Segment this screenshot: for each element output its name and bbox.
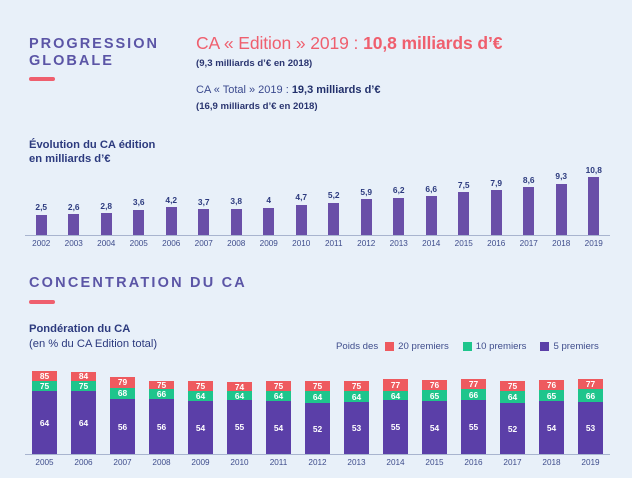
chart2-segment-10: 75	[32, 381, 57, 392]
chart2-bar-group: 756656	[142, 363, 181, 454]
chart1-bar-value: 8,6	[523, 175, 535, 185]
chart2-stacked-bar: 776455	[383, 379, 408, 454]
chart1-bar-value: 4	[266, 195, 271, 205]
chart1-bar	[36, 215, 47, 235]
chart2-bar-group: 746455	[220, 363, 259, 454]
section-title-concentration: CONCENTRATION DU CA	[29, 275, 247, 291]
chart1-x-tick: 2015	[448, 239, 481, 248]
chart1-plot-area: 2,52,62,83,64,23,73,844,75,25,96,26,67,5…	[25, 160, 610, 236]
chart2-segment-20: 84	[71, 372, 96, 381]
chart2-segment-20: 79	[110, 377, 135, 388]
kpi-edition-2019: CA « Edition » 2019 : 10,8 milliards d’€	[196, 33, 502, 54]
chart2-segment-10: 75	[71, 381, 96, 392]
chart2-segment-20: 76	[539, 380, 564, 391]
chart2-bar-group: 756452	[493, 363, 532, 454]
chart1-bar-group: 4,2	[155, 160, 188, 235]
chart1-bar	[393, 198, 404, 235]
chart2-x-tick: 2012	[298, 458, 337, 467]
chart1-bar	[198, 209, 209, 235]
chart2-segment-5: 56	[149, 399, 174, 454]
kpi-edition-value: 10,8 milliards d’€	[363, 33, 502, 53]
chart2-bar-group: 847564	[64, 363, 103, 454]
chart1-bar-group: 8,6	[513, 160, 546, 235]
chart2-x-tick: 2014	[376, 458, 415, 467]
chart1-bar	[166, 207, 177, 235]
chart1-bar	[458, 192, 469, 235]
chart1-bar-value: 5,2	[328, 190, 340, 200]
chart2-x-tick: 2017	[493, 458, 532, 467]
chart2-segment-20: 75	[305, 381, 330, 392]
chart1-title-line1: Évolution du CA édition	[29, 138, 155, 152]
chart2-stacked-bar: 756453	[344, 381, 369, 454]
kpi-total-2019: CA « Total » 2019 : 19,3 milliards d’€	[196, 84, 380, 96]
accent-rule-progression	[29, 77, 55, 81]
chart2-segment-5: 54	[539, 401, 564, 454]
chart1-x-tick: 2013	[383, 239, 416, 248]
chart1-bar-group: 3,7	[188, 160, 221, 235]
chart1-bar-value: 7,5	[458, 180, 470, 190]
chart2-bar-group: 766554	[415, 363, 454, 454]
chart1-bar-value: 3,8	[230, 196, 242, 206]
chart1-bar-group: 3,6	[123, 160, 156, 235]
chart2-stacked-bar: 756454	[266, 381, 291, 454]
chart1-bar-group: 7,5	[448, 160, 481, 235]
legend-label: Poids des	[336, 341, 378, 352]
chart2-segment-10: 64	[383, 391, 408, 400]
chart1-x-tick: 2018	[545, 239, 578, 248]
chart1-bar	[296, 205, 307, 235]
chart2-segment-5: 64	[71, 391, 96, 454]
chart1-bar-group: 5,2	[318, 160, 351, 235]
chart1-bar-value: 2,6	[68, 202, 80, 212]
legend-item-label: 5 premiers	[553, 341, 598, 352]
chart1-bar-group: 7,9	[480, 160, 513, 235]
chart1-bar-value: 4,7	[295, 192, 307, 202]
chart1-bar-value: 3,7	[198, 197, 210, 207]
chart2-segment-10: 65	[539, 390, 564, 401]
chart2-bar-group: 756453	[337, 363, 376, 454]
chart1-bar-group: 2,6	[58, 160, 91, 235]
chart2-segment-20: 85	[32, 371, 57, 381]
chart1-bar	[588, 177, 599, 235]
chart2-x-tick: 2011	[259, 458, 298, 467]
chart1-bar	[491, 190, 502, 235]
chart2-x-tick: 2009	[181, 458, 220, 467]
chart1-x-tick: 2016	[480, 239, 513, 248]
chart2-x-tick: 2016	[454, 458, 493, 467]
chart1-bar-group: 6,6	[415, 160, 448, 235]
chart2-bar-group: 766554	[532, 363, 571, 454]
chart2-x-tick: 2013	[337, 458, 376, 467]
accent-rule-concentration	[29, 300, 55, 304]
chart1-bar-group: 2,5	[25, 160, 58, 235]
header-section: PROGRESSION GLOBALE CA « Edition » 2019 …	[0, 0, 632, 122]
chart2-segment-20: 76	[422, 380, 447, 391]
chart2-plot-area: 8575648475647968567566567564547464557564…	[25, 363, 610, 455]
chart2-segment-10: 64	[188, 391, 213, 401]
chart2-segment-10: 66	[149, 389, 174, 399]
chart2-title-line1: Pondération du CA	[29, 322, 157, 337]
section-title-progression: PROGRESSION GLOBALE	[29, 36, 179, 70]
chart2-legend: Poids des 20 premiers10 premiers5 premie…	[336, 341, 608, 352]
chart2-segment-5: 52	[500, 403, 525, 454]
chart1-x-tick: 2019	[578, 239, 611, 248]
chart2-stacked-bar: 776655	[461, 379, 486, 454]
legend-swatch-icon	[385, 342, 394, 351]
chart2-bar-group: 796856	[103, 363, 142, 454]
chart2-segment-20: 75	[344, 381, 369, 392]
legend-item: 5 premiers	[540, 341, 598, 352]
chart2-segment-20: 75	[188, 381, 213, 392]
chart1-bar-value: 9,3	[555, 171, 567, 181]
chart1-bar-value: 3,6	[133, 197, 145, 207]
chart2-segment-10: 64	[500, 391, 525, 403]
chart1-bar-group: 10,8	[578, 160, 611, 235]
chart1-bar-value: 5,9	[360, 187, 372, 197]
chart2-x-tick: 2019	[571, 458, 610, 467]
chart2-segment-10: 64	[266, 391, 291, 401]
legend-swatch-icon	[540, 342, 549, 351]
chart-evolution-ca-edition: 2,52,62,83,64,23,73,844,75,25,96,26,67,5…	[25, 160, 610, 255]
chart2-stacked-bar: 756452	[500, 381, 525, 454]
chart1-x-tick: 2010	[285, 239, 318, 248]
chart1-x-tick: 2014	[415, 239, 448, 248]
chart1-bar-value: 2,5	[35, 202, 47, 212]
chart1-bar-value: 4,2	[165, 195, 177, 205]
chart1-bar-group: 6,2	[383, 160, 416, 235]
chart2-stacked-bar: 776653	[578, 379, 603, 454]
kpi-edition-prefix: CA « Edition » 2019 :	[196, 33, 363, 53]
chart1-x-tick: 2005	[123, 239, 156, 248]
kpi-total-prefix: CA « Total » 2019 :	[196, 84, 292, 96]
chart1-bar-value: 2,8	[100, 201, 112, 211]
chart1-bar	[556, 184, 567, 235]
chart2-x-tick: 2008	[142, 458, 181, 467]
chart2-bar-group: 776653	[571, 363, 610, 454]
chart2-x-tick: 2007	[103, 458, 142, 467]
chart2-segment-20: 75	[149, 381, 174, 390]
chart2-segment-20: 75	[500, 381, 525, 392]
chart1-bar-value: 6,6	[425, 184, 437, 194]
chart-ponderation-du-ca: 8575648475647968567566567564547464557564…	[25, 363, 610, 468]
chart2-stacked-bar: 746455	[227, 382, 252, 454]
chart2-stacked-bar: 857564	[32, 371, 57, 454]
chart2-title: Pondération du CA (en % du CA Edition to…	[29, 322, 157, 351]
chart2-segment-5: 55	[227, 400, 252, 454]
kpi-total-2018: (16,9 milliards d’€ en 2018)	[196, 101, 318, 112]
legend-item-label: 20 premiers	[398, 341, 449, 352]
chart1-bar-group: 3,8	[220, 160, 253, 235]
chart2-segment-5: 54	[188, 401, 213, 454]
chart2-segment-10: 64	[344, 391, 369, 402]
chart2-segment-5: 53	[344, 402, 369, 454]
chart2-stacked-bar: 756452	[305, 381, 330, 454]
chart1-bar-group: 2,8	[90, 160, 123, 235]
chart1-bar	[231, 209, 242, 235]
chart1-bar	[426, 196, 437, 235]
chart2-segment-10: 68	[110, 388, 135, 400]
chart1-bar-value: 7,9	[490, 178, 502, 188]
infographic-page: PROGRESSION GLOBALE CA « Edition » 2019 …	[0, 0, 632, 478]
chart1-bar-group: 9,3	[545, 160, 578, 235]
chart2-segment-10: 66	[578, 389, 603, 402]
chart2-segment-5: 52	[305, 403, 330, 454]
chart1-bar	[361, 199, 372, 235]
chart2-segment-10: 65	[422, 390, 447, 401]
chart1-x-tick: 2017	[513, 239, 546, 248]
chart2-x-tick: 2005	[25, 458, 64, 467]
chart2-bar-group: 756452	[298, 363, 337, 454]
chart1-bar-value: 6,2	[393, 185, 405, 195]
chart1-bar-group: 4,7	[285, 160, 318, 235]
chart2-bar-group: 776655	[454, 363, 493, 454]
chart2-segment-10: 64	[227, 391, 252, 400]
chart1-x-axis: 2002200320042005200620072008200920102011…	[25, 239, 610, 248]
chart2-segment-10: 66	[461, 389, 486, 400]
chart2-x-axis: 2005200620072008200920102011201220132014…	[25, 458, 610, 467]
chart2-segment-10: 64	[305, 391, 330, 403]
chart1-x-tick: 2011	[318, 239, 351, 248]
chart1-bar	[68, 214, 79, 235]
chart2-segment-20: 77	[578, 379, 603, 390]
chart2-x-tick: 2015	[415, 458, 454, 467]
legend-item-label: 10 premiers	[476, 341, 527, 352]
chart2-stacked-bar: 756454	[188, 381, 213, 454]
chart2-x-tick: 2010	[220, 458, 259, 467]
chart2-segment-5: 54	[266, 401, 291, 454]
chart2-stacked-bar: 766554	[422, 380, 447, 454]
chart1-bar	[133, 210, 144, 235]
chart1-bar-value: 10,8	[586, 165, 602, 175]
chart2-x-tick: 2006	[64, 458, 103, 467]
chart2-segment-5: 55	[461, 400, 486, 454]
chart1-x-tick: 2007	[188, 239, 221, 248]
chart1-x-tick: 2004	[90, 239, 123, 248]
chart2-stacked-bar: 756656	[149, 381, 174, 454]
chart2-bar-group: 776455	[376, 363, 415, 454]
chart1-x-tick: 2009	[253, 239, 286, 248]
chart2-segment-5: 55	[383, 400, 408, 454]
kpi-total-value: 19,3 milliards d’€	[292, 84, 381, 96]
chart1-x-tick: 2012	[350, 239, 383, 248]
chart1-bar-group: 4	[253, 160, 286, 235]
chart1-x-tick: 2002	[25, 239, 58, 248]
chart1-bar	[101, 213, 112, 235]
chart1-x-tick: 2006	[155, 239, 188, 248]
chart1-bar-group: 5,9	[350, 160, 383, 235]
chart2-stacked-bar: 796856	[110, 377, 135, 454]
chart2-segment-20: 75	[266, 381, 291, 392]
chart1-x-tick: 2008	[220, 239, 253, 248]
chart1-bar	[263, 208, 274, 235]
legend-item: 10 premiers	[463, 341, 527, 352]
chart2-stacked-bar: 766554	[539, 380, 564, 454]
legend-item: 20 premiers	[385, 341, 449, 352]
chart2-segment-5: 56	[110, 399, 135, 454]
chart1-bar	[523, 187, 534, 235]
chart1-bar	[328, 203, 339, 236]
kpi-edition-2018: (9,3 milliards d’€ en 2018)	[196, 58, 312, 69]
chart2-bar-group: 756454	[181, 363, 220, 454]
chart2-title-line2: (en % du CA Edition total)	[29, 337, 157, 352]
chart2-stacked-bar: 847564	[71, 372, 96, 454]
chart2-bar-group: 756454	[259, 363, 298, 454]
chart2-segment-20: 77	[383, 379, 408, 392]
legend-swatch-icon	[463, 342, 472, 351]
chart2-segment-5: 53	[578, 402, 603, 454]
chart2-segment-5: 54	[422, 401, 447, 454]
chart2-x-tick: 2018	[532, 458, 571, 467]
chart1-x-tick: 2003	[58, 239, 91, 248]
chart2-segment-20: 77	[461, 379, 486, 390]
chart2-bar-group: 857564	[25, 363, 64, 454]
chart2-segment-5: 64	[32, 391, 57, 454]
